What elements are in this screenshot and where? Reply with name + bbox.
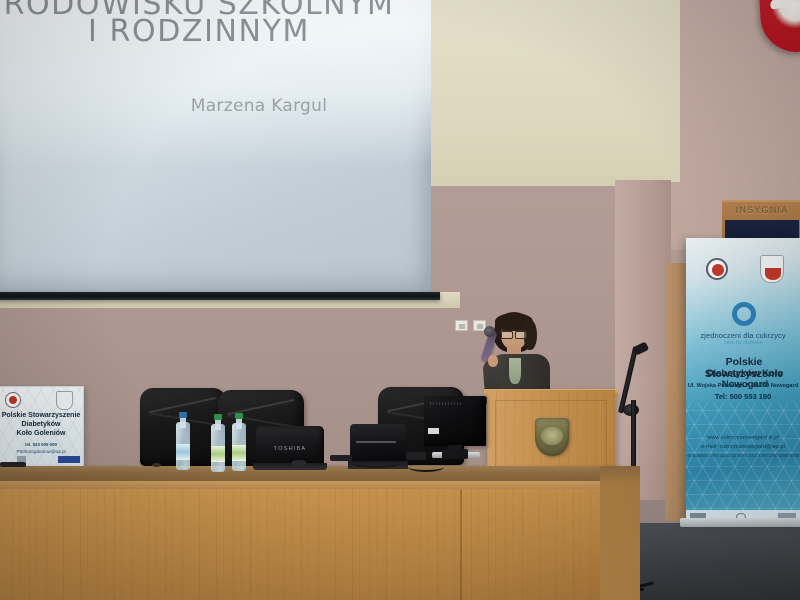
cable-1: [352, 458, 400, 468]
speaker-shirt: [509, 358, 521, 384]
speaker-presenter: [480, 312, 560, 394]
banner-email: e-mail: cukrzycanowogard@wp.pl: [686, 444, 800, 450]
banner-left-email: PSDkologoleniow@wp.pl: [0, 449, 84, 454]
banner-website: www.cukrzycanowogard.ik.pl: [686, 435, 800, 441]
laptop-brand-label: TOSHIBA: [253, 446, 327, 452]
banner-left-org-line1: Polskie Stowarzyszenie: [0, 412, 84, 419]
banner-left-org-line2: Diabetyków: [0, 421, 84, 428]
table-wood-grain: [0, 489, 631, 600]
campaign-slogan-en: unite for diabetes: [686, 340, 800, 346]
photo-scene: INSYGNIA RODOWISKU SZKOLNYM I RODZINNYM …: [0, 0, 800, 600]
water-bottle-blue[interactable]: [176, 412, 190, 470]
banner-hex-pattern: [686, 403, 800, 523]
desk-device[interactable]: [442, 449, 468, 459]
laptop-base: [253, 463, 327, 470]
banner-phone: Tel: 500 553 190: [686, 392, 800, 401]
banner-address: Ul. Wojska Polskiego 7, 72-200 Nowogard: [686, 383, 800, 389]
wall-outlet-1[interactable]: [455, 320, 468, 331]
banner-left-phone: tel. 533 000 000: [0, 442, 84, 447]
insygnia-label: INSYGNIA: [722, 205, 800, 215]
conference-table-front: [0, 489, 631, 600]
laptop2-screen-strip: [356, 441, 396, 443]
water-bottle-green-2[interactable]: [232, 413, 246, 471]
table-right-section: [600, 466, 640, 600]
monitor-label-sticker: [428, 428, 439, 434]
goleniow-coat-of-arms-icon: [56, 391, 73, 410]
banner-account-number: 45 Bołnków Olfio-ogard 52 9375 1012 4200…: [686, 453, 800, 458]
nowogard-coat-of-arms-icon: [760, 255, 784, 283]
monitor-vent: [430, 402, 462, 405]
banner-left-org-line3: Koło Goleniów: [0, 430, 84, 437]
slide-title-line2: I RODZINNYM: [0, 14, 404, 49]
diabetes-association-logo-left-icon: [5, 392, 21, 408]
eu-flag-logo-icon: [58, 456, 80, 463]
water-bottle-green[interactable]: [211, 414, 225, 472]
laptop-toshiba[interactable]: TOSHIBA: [253, 426, 327, 470]
cable-2: [408, 462, 444, 472]
laptop-lid: [256, 426, 324, 464]
polish-eagle-crest-icon: [535, 418, 569, 456]
wall-cream-panel: [420, 0, 680, 182]
banner-goleniow: Polskie Stowarzyszenie Diabetyków Koło G…: [0, 386, 84, 468]
cable-left: [0, 462, 26, 467]
banner-nowogard: zjednoczeni dla cukrzycy unite for diabe…: [686, 238, 800, 523]
laptop2-lid: [350, 424, 406, 462]
glasses-icon: [501, 330, 527, 336]
campaign-slogan-pl: zjednoczeni dla cukrzycy: [686, 331, 800, 340]
cable-bundle-2: [406, 452, 426, 460]
computer-mouse[interactable]: [292, 460, 306, 466]
cable-bundle-1: [330, 455, 352, 461]
speaker-hand: [488, 355, 498, 367]
projection-screen: RODOWISKU SZKOLNYM I RODZINNYM Marzena K…: [0, 0, 431, 294]
small-object-1: [152, 463, 161, 467]
diabetes-association-logo-icon: [706, 258, 728, 280]
projection-screen-weight-bar: [0, 292, 440, 300]
eagle-shape: [771, 0, 800, 29]
microphone-head: [484, 326, 495, 337]
slide-author: Marzena Kargul: [114, 96, 404, 116]
monitor-rear-panel: [424, 396, 486, 446]
blue-circle-diabetes-icon: [732, 302, 756, 326]
banner-right-stand: [680, 518, 800, 527]
table-panel-seam: [460, 489, 462, 600]
